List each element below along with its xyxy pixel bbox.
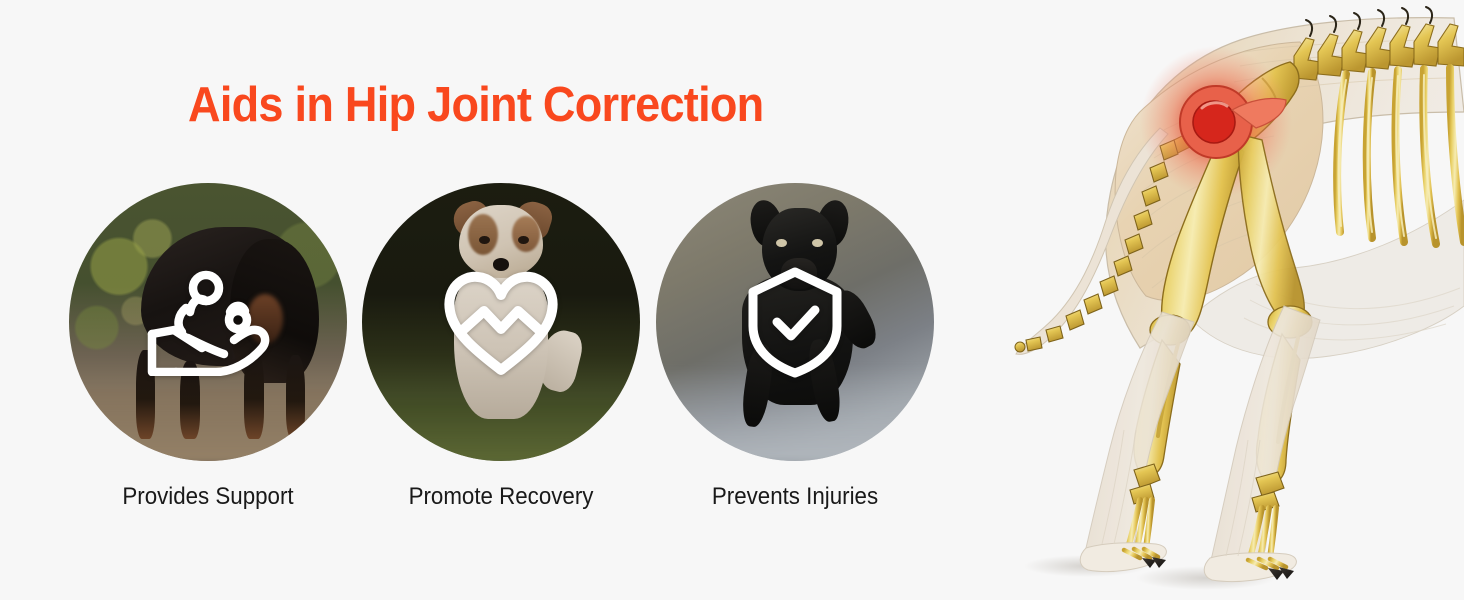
feature-label: Prevents Injuries — [666, 483, 925, 511]
dog-hind-skeleton-illustration — [994, 0, 1464, 600]
hip-joint-banner: Aids in Hip Joint Correction — [0, 0, 1464, 600]
feature-item-provides-support[interactable]: Provides Support — [69, 183, 347, 461]
page-title: Aids in Hip Joint Correction — [188, 80, 763, 131]
feature-label: Provides Support — [79, 483, 338, 511]
feature-list: Provides Support — [69, 183, 935, 528]
feature-circle — [69, 183, 347, 461]
tail-tip-bone — [1015, 342, 1025, 352]
feature-circle — [656, 183, 934, 461]
feature-item-promote-recovery[interactable]: Promote Recovery — [362, 183, 640, 461]
feature-label: Promote Recovery — [372, 483, 631, 511]
feature-circle — [362, 183, 640, 461]
femoral-head-ball — [1193, 101, 1235, 143]
hand-holding-person-icon — [69, 183, 347, 461]
shield-check-icon — [656, 183, 934, 461]
heart-pulse-icon — [362, 183, 640, 461]
paw-fur-near — [1080, 543, 1166, 572]
feature-item-prevents-injuries[interactable]: Prevents Injuries — [656, 183, 934, 461]
